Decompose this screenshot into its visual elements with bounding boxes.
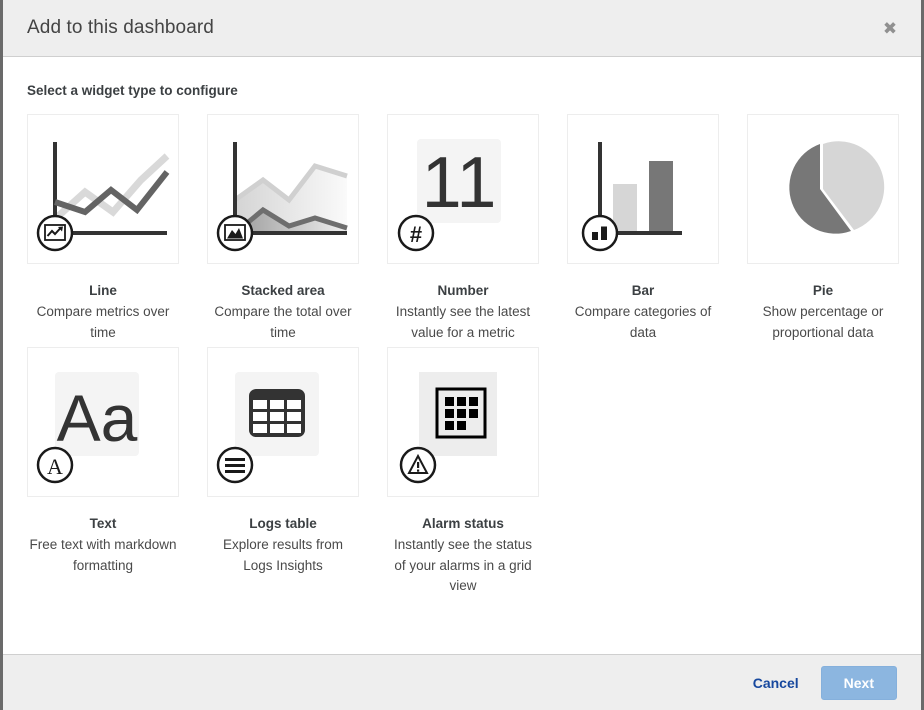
- widget-tile-label: Bar: [567, 281, 719, 301]
- widget-tile-bar[interactable]: Bar Compare categories of data: [567, 114, 719, 343]
- widget-tile-label: Text: [27, 514, 179, 534]
- widget-tile-label: Stacked area: [207, 281, 359, 301]
- alarm-grid-art: [387, 347, 539, 497]
- widget-tile-label: Alarm status: [387, 514, 539, 534]
- next-button[interactable]: Next: [821, 666, 897, 700]
- number-art: 11 #: [387, 114, 539, 264]
- widget-tile-description: Free text with markdown formatting: [27, 535, 179, 576]
- widget-tile-label: Pie: [747, 281, 899, 301]
- widget-tile-pie[interactable]: Pie Show percentage or proportional data: [747, 114, 899, 343]
- widget-tile-stacked-area[interactable]: Stacked area Compare the total over time: [207, 114, 359, 343]
- bar-chart-art: [567, 114, 719, 264]
- close-icon[interactable]: ✖: [877, 15, 903, 41]
- list-lines-badge-icon: [225, 458, 245, 473]
- widget-tile-description: Instantly see the status of your alarms …: [387, 535, 539, 597]
- line-chart-art: [27, 114, 179, 264]
- widget-tile-number[interactable]: 11 # Number Instantly see the latest val…: [387, 114, 539, 343]
- hash-badge-icon: #: [410, 222, 422, 247]
- text-art: Aa A: [27, 347, 179, 497]
- pie-chart-art: [747, 114, 899, 264]
- widget-type-grid: Line Compare metrics over time: [27, 114, 897, 597]
- cancel-button[interactable]: Cancel: [749, 673, 803, 693]
- text-art-value: Aa: [57, 381, 138, 455]
- widget-tile-description: Instantly see the latest value for a met…: [387, 302, 539, 343]
- modal-body: Select a widget type to configure: [3, 57, 921, 654]
- logs-table-art: [207, 347, 359, 497]
- widget-tile-description: Compare metrics over time: [27, 302, 179, 343]
- widget-tile-logs-table[interactable]: Logs table Explore results from Logs Ins…: [207, 347, 359, 597]
- widget-tile-description: Compare the total over time: [207, 302, 359, 343]
- page-title: Add to this dashboard: [27, 17, 877, 39]
- widget-tile-description: Explore results from Logs Insights: [207, 535, 359, 576]
- widget-tile-description: Compare categories of data: [567, 302, 719, 343]
- letter-a-badge-icon: A: [47, 454, 63, 479]
- modal-header: Add to this dashboard ✖: [3, 0, 921, 57]
- stacked-area-chart-art: [207, 114, 359, 264]
- widget-tile-label: Logs table: [207, 514, 359, 534]
- widget-tile-label: Line: [27, 281, 179, 301]
- widget-tile-description: Show percentage or proportional data: [747, 302, 899, 343]
- widget-tile-alarm-status[interactable]: Alarm status Instantly see the status of…: [387, 347, 539, 597]
- add-to-dashboard-modal: Add to this dashboard ✖ Select a widget …: [0, 0, 924, 710]
- modal-footer: Cancel Next: [3, 654, 921, 710]
- widget-tile-text[interactable]: Aa A Text Free text with markdown format…: [27, 347, 179, 597]
- section-label: Select a widget type to configure: [27, 83, 897, 98]
- widget-tile-line[interactable]: Line Compare metrics over time: [27, 114, 179, 343]
- widget-tile-label: Number: [387, 281, 539, 301]
- number-art-value: 11: [422, 143, 497, 223]
